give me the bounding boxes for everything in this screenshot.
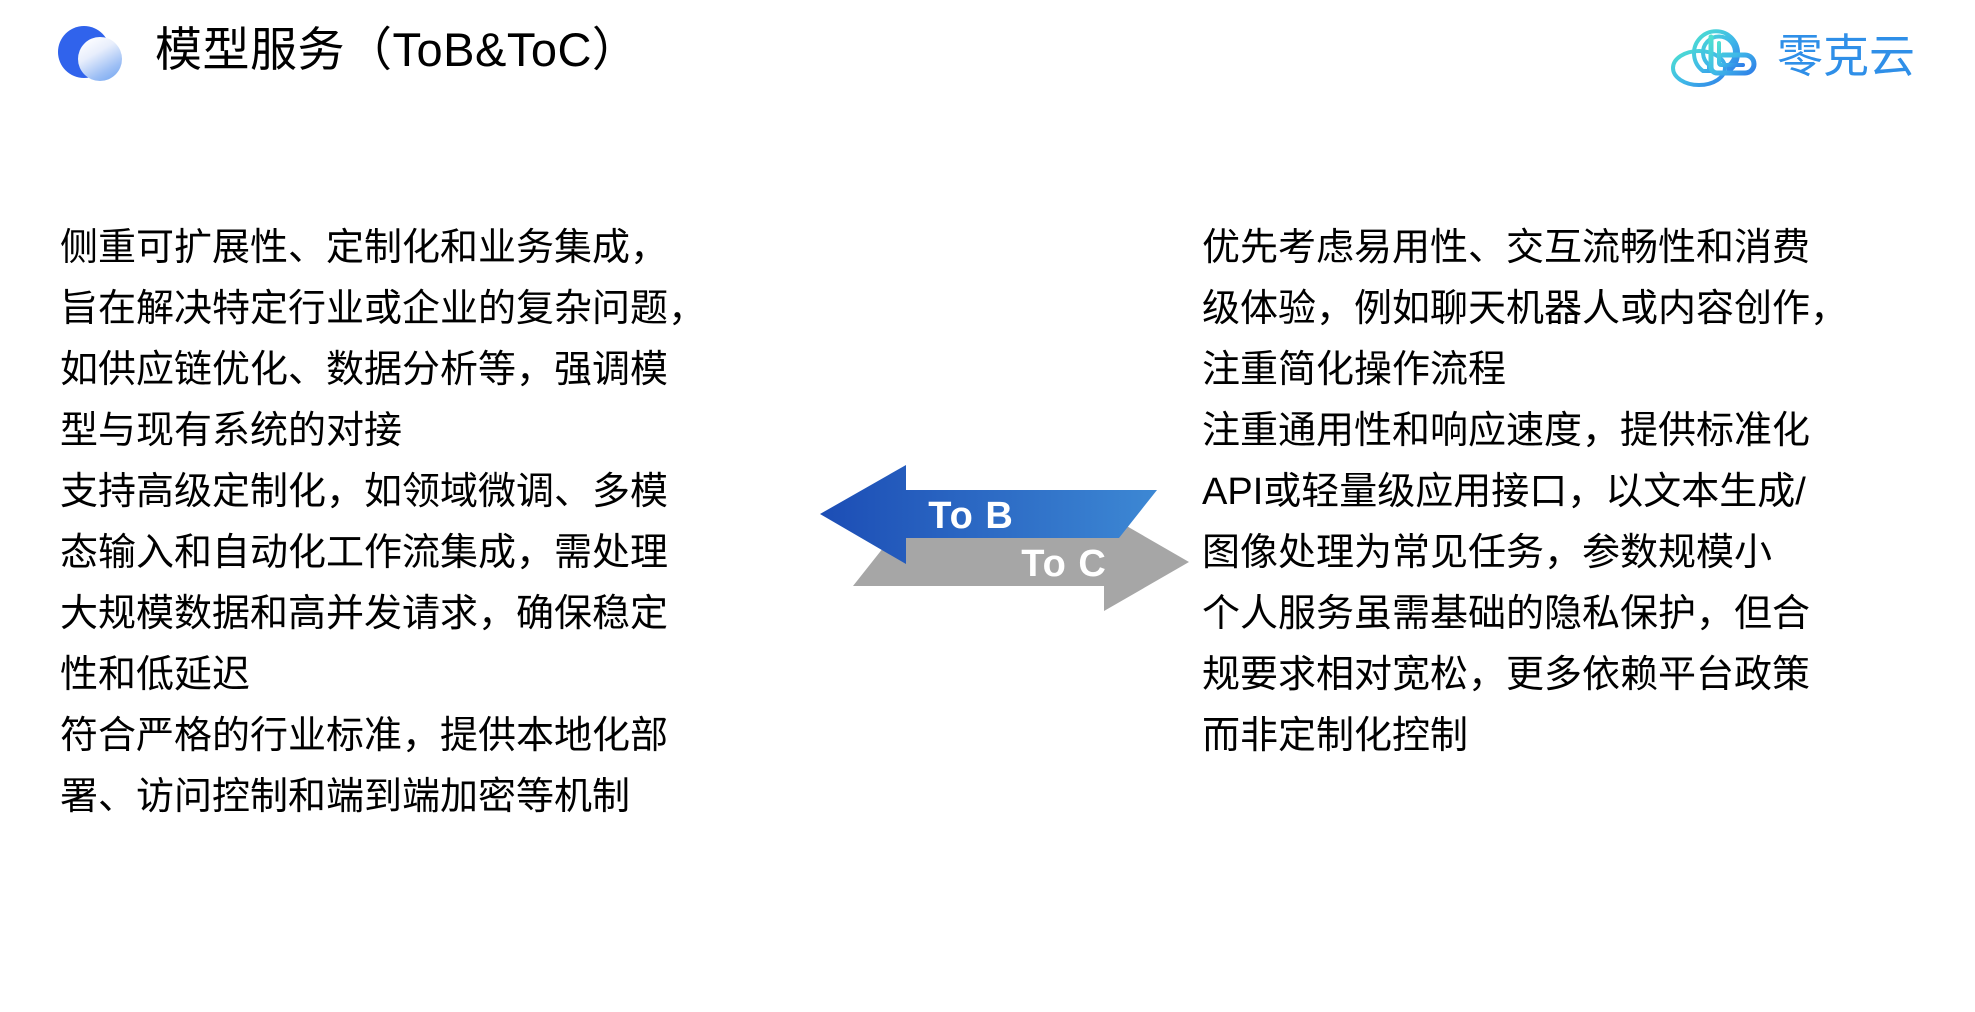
right-line: 图像处理为常见任务，参数规模小 [1202, 523, 1848, 584]
slide-header: 模型服务（ToB&ToC） 零克云 [0, 0, 1975, 110]
left-line: 署、访问控制和端到端加密等机制 [60, 767, 706, 828]
left-line: 支持高级定制化，如领域微调、多模 [60, 462, 706, 523]
left-line: 性和低延迟 [60, 645, 706, 706]
left-text-column: 侧重可扩展性、定制化和业务集成， 旨在解决特定行业或企业的复杂问题， 如供应链优… [60, 218, 706, 828]
left-line: 侧重可扩展性、定制化和业务集成， [60, 218, 706, 279]
page-title: 模型服务（ToB&ToC） [155, 17, 639, 83]
left-line: 型与现有系统的对接 [60, 401, 706, 462]
right-line: 级体验，例如聊天机器人或内容创作， [1202, 279, 1848, 340]
right-line: API或轻量级应用接口，以文本生成/ [1202, 462, 1848, 523]
cloud-lock-logo-icon [1667, 19, 1763, 91]
to-b-arrow-label: To B [928, 495, 1014, 537]
right-line: 优先考虑易用性、交互流畅性和消费 [1202, 218, 1848, 279]
slide-root: 模型服务（ToB&ToC） 零克云 侧重可扩展性 [0, 0, 1975, 1012]
arrow-svg: To C To B [806, 452, 1204, 624]
bidirectional-arrow-graphic: To C To B [806, 452, 1204, 624]
right-line: 注重通用性和响应速度，提供标准化 [1202, 401, 1848, 462]
left-line: 态输入和自动化工作流集成，需处理 [60, 523, 706, 584]
right-line: 个人服务虽需基础的隐私保护，但合 [1202, 584, 1848, 645]
brand-name-wordmark: 零克云 [1777, 24, 1927, 86]
two-overlapping-circles-icon [56, 20, 124, 86]
brand-name-text: 零克云 [1777, 30, 1915, 82]
right-text-column: 优先考虑易用性、交互流畅性和消费 级体验，例如聊天机器人或内容创作， 注重简化操… [1202, 218, 1848, 767]
right-line: 规要求相对宽松，更多依赖平台政策 [1202, 645, 1848, 706]
right-line: 注重简化操作流程 [1202, 340, 1848, 401]
corporate-logo: 零克云 [1667, 19, 1927, 91]
to-c-arrow-label: To C [1021, 543, 1107, 585]
right-line: 而非定制化控制 [1202, 706, 1848, 767]
circle-gradient-shape [78, 37, 122, 81]
left-line: 符合严格的行业标准，提供本地化部 [60, 706, 706, 767]
left-line: 如供应链优化、数据分析等，强调模 [60, 340, 706, 401]
left-line: 旨在解决特定行业或企业的复杂问题， [60, 279, 706, 340]
left-line: 大规模数据和高并发请求，确保稳定 [60, 584, 706, 645]
